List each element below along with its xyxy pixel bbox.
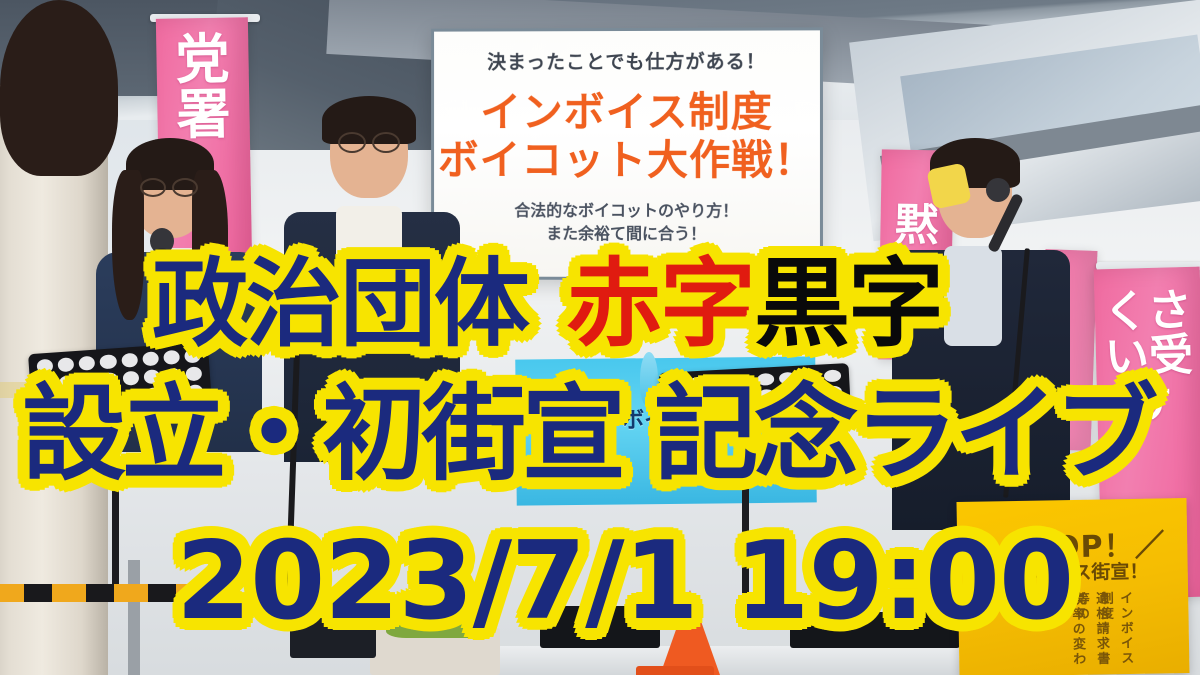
title-segment-deficit: 赤字 <box>566 256 754 352</box>
event-datetime: 2023/7/1 19:00 <box>176 528 1073 636</box>
title-overlay: 政治団体赤字黒字 設立・初街宣 記念ライブ 2023/7/1 19:00 <box>0 0 1200 675</box>
title-line-1: 政治団体赤字黒字 <box>152 256 942 352</box>
event-flyer-image: 党署 黙 くさい受け 決まったことでも仕方がある！ インボイス制度 ボイコット大… <box>0 0 1200 675</box>
title-line-2: 設立・初街宣 記念ライブ <box>22 382 1154 486</box>
title-segment-surplus: 黒字 <box>754 256 942 352</box>
title-segment-organization: 政治団体 <box>152 256 528 352</box>
